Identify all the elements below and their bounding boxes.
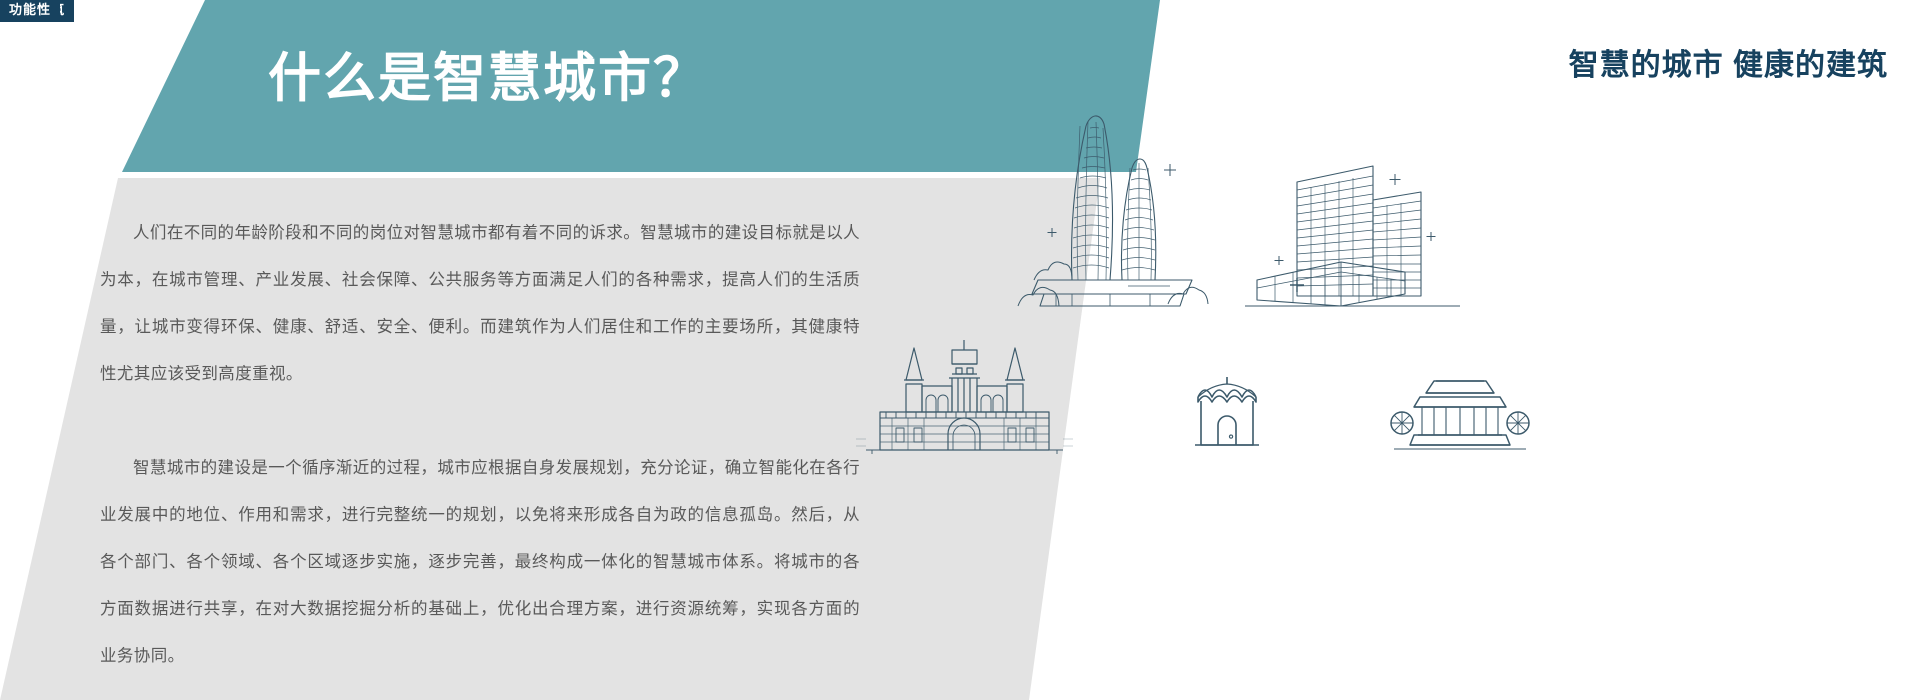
- body-copy: 人们在不同的年龄阶段和不同的岗位对智慧城市都有着不同的诉求。智慧城市的建设目标就…: [100, 210, 860, 680]
- pavilion-hall-icon: [1390, 375, 1530, 453]
- hospital-building-icon: [1245, 160, 1460, 308]
- twin-towers-skyscraper-icon: [1010, 108, 1220, 308]
- paragraph-1: 人们在不同的年龄阶段和不同的岗位对智慧城市都有着不同的诉求。智慧城市的建设目标就…: [100, 210, 860, 398]
- house-home-icon: [1182, 375, 1272, 453]
- slide-canvas: 什么是智慧城市？ 智慧的城市 健康的建筑 人们在不同的年龄阶段和不同的岗位对智慧…: [0, 0, 1920, 700]
- caption-functionality: 功能性: [0, 0, 60, 22]
- page-title: 什么是智慧城市？: [268, 36, 708, 112]
- paragraph-2: 智慧城市的建设是一个循序渐近的过程，城市应根据自身发展规划，充分论证，确立智能化…: [100, 445, 860, 680]
- castle-fortress-icon: [852, 338, 1077, 454]
- slide-subtitle: 智慧的城市 健康的建筑: [1569, 40, 1888, 84]
